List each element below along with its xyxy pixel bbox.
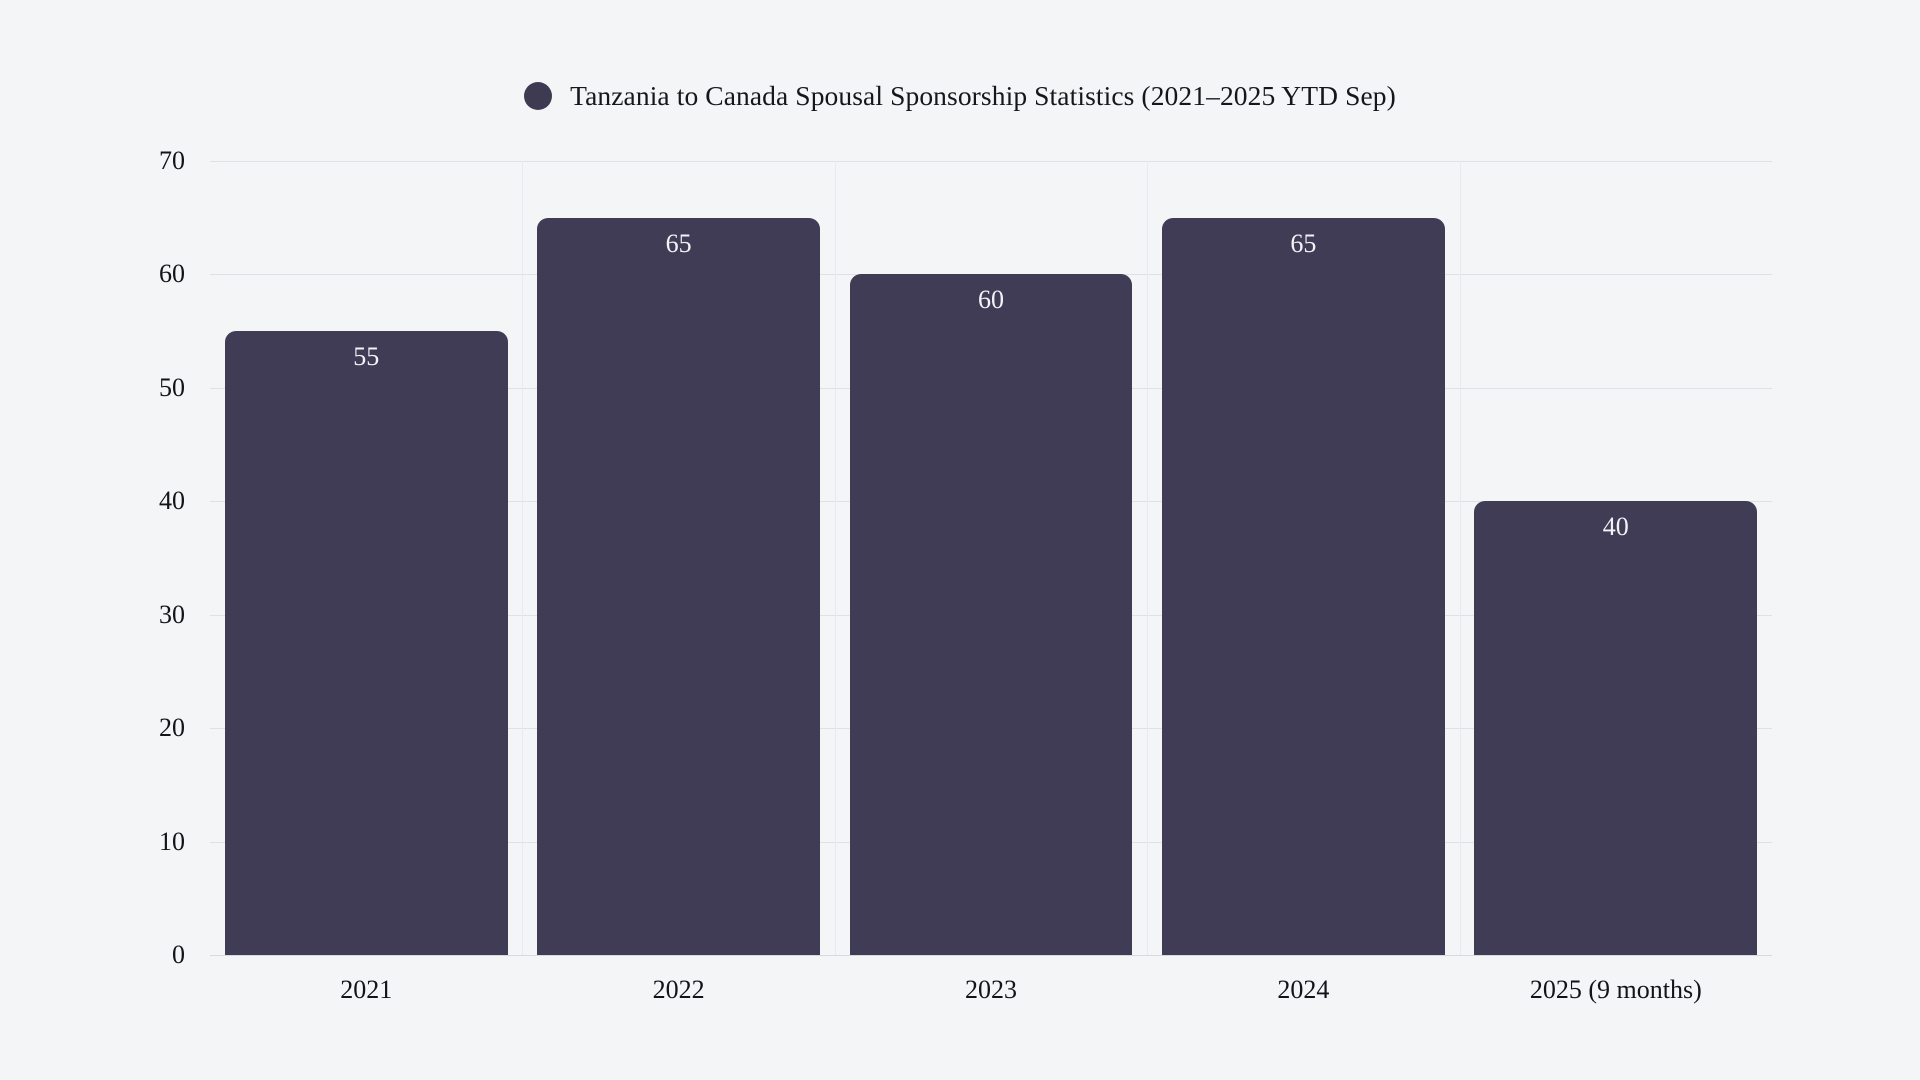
bars: 5565606540	[210, 161, 1772, 955]
bar[interactable]: 60	[850, 274, 1133, 955]
circle-marker-icon	[524, 82, 552, 110]
bar[interactable]: 65	[1162, 218, 1445, 955]
x-axis-tick-label: 2021	[340, 975, 392, 1005]
bar[interactable]: 55	[225, 331, 508, 955]
y-axis-tick-label: 70	[159, 146, 185, 176]
bar-value-label: 65	[1162, 231, 1445, 257]
x-axis-tick-label: 2025 (9 months)	[1530, 975, 1702, 1005]
y-axis: 706050403020100	[0, 0, 210, 1080]
x-axis-tick-label: 2024	[1277, 975, 1329, 1005]
chart-legend-title: Tanzania to Canada Spousal Sponsorship S…	[0, 82, 1920, 110]
bar[interactable]: 65	[537, 218, 820, 955]
bar-column[interactable]: 65	[537, 218, 820, 955]
x-axis: 20212022202320242025 (9 months)	[210, 975, 1772, 1035]
chart-title: Tanzania to Canada Spousal Sponsorship S…	[570, 82, 1396, 110]
bar-value-label: 60	[850, 287, 1133, 313]
plot-area: 5565606540	[210, 161, 1772, 955]
gridline	[210, 955, 1772, 956]
bar-column[interactable]: 55	[225, 331, 508, 955]
bar-column[interactable]: 60	[850, 274, 1133, 955]
y-axis-tick-label: 60	[159, 259, 185, 289]
bar-column[interactable]: 40	[1474, 501, 1757, 955]
x-axis-tick-label: 2022	[653, 975, 705, 1005]
y-axis-tick-label: 30	[159, 600, 185, 630]
y-axis-tick-label: 50	[159, 373, 185, 403]
x-axis-tick-label: 2023	[965, 975, 1017, 1005]
y-axis-tick-label: 40	[159, 486, 185, 516]
bar-column[interactable]: 65	[1162, 218, 1445, 955]
y-axis-tick-label: 0	[172, 940, 185, 970]
bar[interactable]: 40	[1474, 501, 1757, 955]
bar-value-label: 65	[537, 231, 820, 257]
y-axis-tick-label: 20	[159, 713, 185, 743]
bar-chart: Tanzania to Canada Spousal Sponsorship S…	[0, 0, 1920, 1080]
bar-value-label: 40	[1474, 514, 1757, 540]
bar-value-label: 55	[225, 344, 508, 370]
y-axis-tick-label: 10	[159, 827, 185, 857]
